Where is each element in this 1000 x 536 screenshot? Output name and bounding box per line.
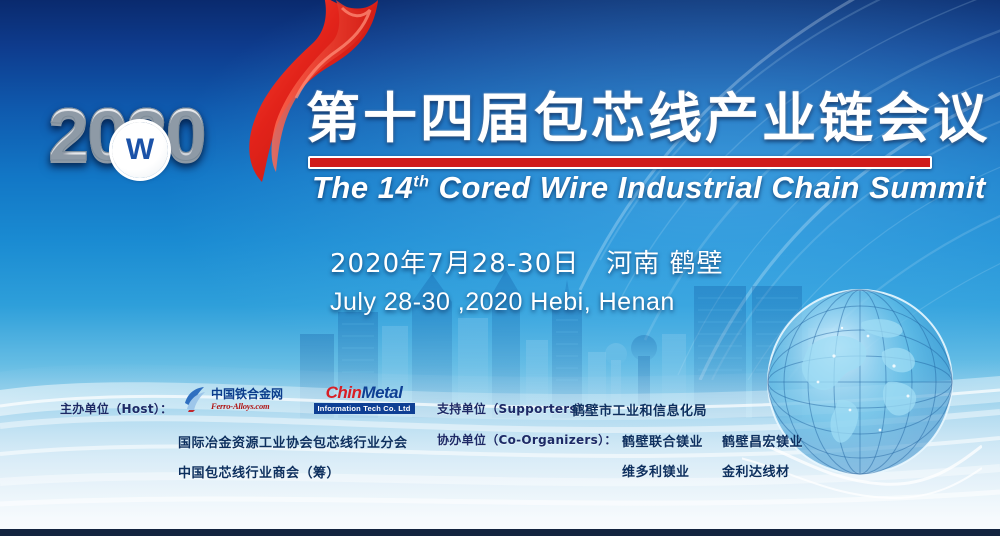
event-date-english: July 28-30 ,2020 Hebi, Henan [330,284,724,320]
chinmetal-name-part2: Metal [361,383,402,402]
w-emblem-letter: W [126,135,154,165]
title-en-prefix: The 14 [312,170,413,205]
event-date-location: 2020年7月28-30日 河南 鹤壁 July 28-30 ,2020 Heb… [330,246,724,320]
page-title-chinese: 第十四届包芯线产业链会议 [306,92,990,146]
title-divider [308,156,932,169]
w-emblem-icon: W [112,122,168,178]
bottom-edge-strip [0,529,1000,536]
chinmetal-logo[interactable]: ChinMetal Information Tech Co. Ltd [306,383,422,415]
supporter-org-1: 鹤壁市工业和信息化局 [572,400,707,419]
chinmetal-name-part1: Chin [326,383,362,402]
title-en-ordinal: th [413,173,429,191]
event-date-chinese: 2020年7月28-30日 河南 鹤壁 [330,246,724,284]
coorganizers-label: 协办单位（Co-Organizers）： [437,431,617,448]
coorganizer-org-2: 鹤壁昌宏镁业 [722,431,803,450]
chinmetal-name: ChinMetal [326,384,403,401]
ferroalloys-mark-icon [182,385,208,413]
coorganizer-org-4: 金利达线材 [722,461,790,480]
ferroalloys-logo-cn: 中国铁合金网 [211,388,283,400]
chinmetal-tagline: Information Tech Co. Ltd [314,403,415,414]
host-org-2: 中国包芯线行业商会（筹） [178,462,340,481]
coorganizer-org-3: 维多利镁业 [622,461,690,480]
page-title-english: The 14th Cored Wire Industrial Chain Sum… [312,170,986,206]
ferroalloys-logo-en: Ferro-Alloys.com [211,402,283,411]
host-org-1: 国际冶金资源工业协会包芯线行业分会 [178,432,408,451]
coorganizer-org-1: 鹤壁联合镁业 [622,431,703,450]
ferroalloys-logo[interactable]: 中国铁合金网 Ferro-Alloys.com [182,382,290,416]
conference-banner: 2020 W 第十四届包芯线产业链会议 The 14th Cored Wire … [0,0,1000,536]
title-en-suffix: Cored Wire Industrial Chain Summit [429,170,985,205]
host-label: 主办单位（Host）： [60,400,172,417]
